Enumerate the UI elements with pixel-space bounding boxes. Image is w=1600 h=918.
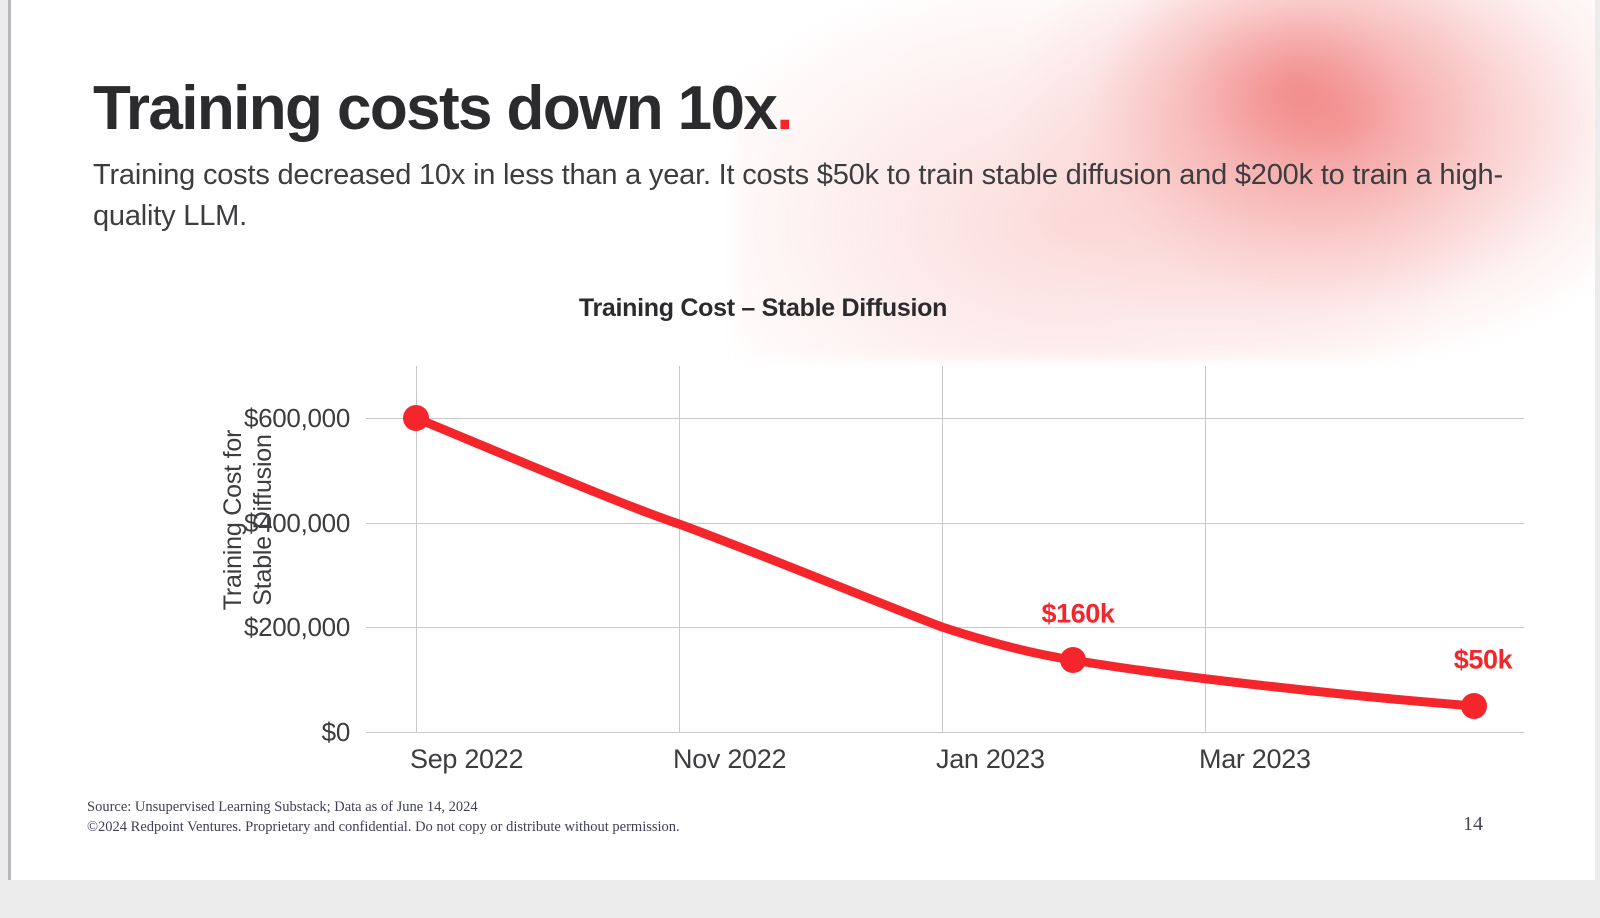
footer-source-line: Source: Unsupervised Learning Substack; … <box>87 797 680 818</box>
gridline-y-0 <box>366 732 1524 733</box>
data-point-marker-start <box>403 405 429 431</box>
series-training-cost <box>366 366 1524 732</box>
y-tick-label-400000: $400,000 <box>130 508 350 539</box>
page-title-text: Training costs down 10x <box>93 74 776 143</box>
data-point-marker-50k <box>1461 693 1487 719</box>
page-title-accent-dot: . <box>776 74 792 143</box>
x-tick-label-nov-2022: Nov 2022 <box>673 744 786 775</box>
chart-title: Training Cost – Stable Diffusion <box>93 294 1433 323</box>
y-tick-label-0: $0 <box>130 717 350 748</box>
footer: Source: Unsupervised Learning Substack; … <box>87 797 680 838</box>
footer-copyright-line: ©2024 Redpoint Ventures. Proprietary and… <box>87 817 680 838</box>
data-label-160k: $160k <box>1041 599 1114 630</box>
slide-viewport: Training costs down 10x. Training costs … <box>0 0 1600 918</box>
y-tick-label-200000: $200,000 <box>130 612 350 643</box>
y-tick-label-600000: $600,000 <box>130 403 350 434</box>
data-point-marker-160k <box>1060 647 1086 673</box>
x-tick-label-sep-2022: Sep 2022 <box>410 744 523 775</box>
page-number: 14 <box>1463 813 1483 836</box>
data-label-50k: $50k <box>1454 645 1512 676</box>
page-title: Training costs down 10x. <box>93 76 792 142</box>
x-tick-label-jan-2023: Jan 2023 <box>936 744 1045 775</box>
page-subtitle: Training costs decreased 10x in less tha… <box>93 155 1513 237</box>
line-chart: Training Cost – Stable Diffusion Trainin… <box>93 280 1533 800</box>
x-tick-label-mar-2023: Mar 2023 <box>1199 744 1311 775</box>
presentation-slide: Training costs down 10x. Training costs … <box>8 0 1595 880</box>
plot-area: $600,000 $400,000 $200,000 $0 Sep 2022 N… <box>366 366 1524 732</box>
series-line <box>416 418 1474 706</box>
